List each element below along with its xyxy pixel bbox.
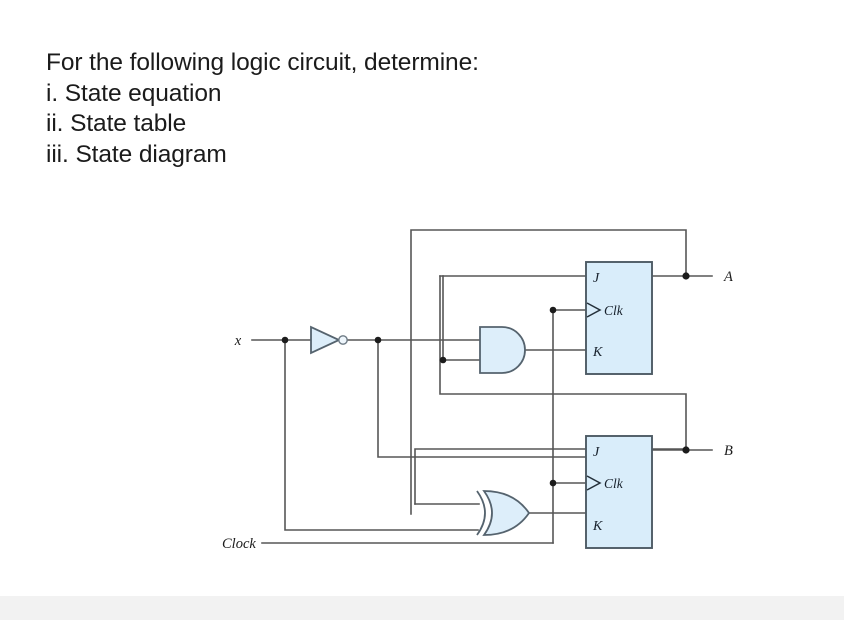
question-prompt: For the following logic circuit, determi… [46, 48, 766, 79]
junction-output-a [682, 272, 689, 279]
x-input-label: x [234, 333, 242, 349]
xor-gate-body [484, 491, 529, 535]
xor-gate [477, 491, 529, 535]
flip-flop-b-pin-j: J [593, 445, 600, 460]
junction-clock-ffb [550, 480, 557, 487]
output-a-label: A [723, 269, 733, 285]
flip-flop-a-pin-j: J [593, 271, 600, 286]
flip-flop-b-pin-k: K [592, 519, 603, 534]
inverter-gate [311, 327, 347, 353]
and-gate [480, 327, 525, 373]
logic-circuit-diagram: J Clk K J Clk K x Clock A B [0, 205, 844, 575]
junction-xbar-node [375, 337, 382, 344]
question-item-iii: iii. State diagram [46, 140, 766, 171]
question-text-block: For the following logic circuit, determi… [46, 48, 766, 170]
clock-input-label: Clock [222, 536, 256, 552]
flip-flop-b-pin-clk: Clk [604, 476, 624, 491]
junction-clock-ffa [550, 307, 557, 314]
wire-x-drop-to-xor [285, 340, 478, 530]
flip-flop-a: J Clk K [586, 262, 652, 374]
flip-flop-a-pin-clk: Clk [604, 303, 624, 318]
question-item-i: i. State equation [46, 79, 766, 110]
page-canvas: For the following logic circuit, determi… [0, 0, 844, 620]
inverter-bubble [339, 336, 347, 344]
junction-and-lower [440, 357, 447, 364]
inverter-triangle [311, 327, 339, 353]
junction-x-node [282, 337, 289, 344]
output-b-label: B [724, 443, 733, 459]
circuit-svg-canvas: J Clk K J Clk K x Clock A B [0, 205, 844, 575]
xor-extra-arc [477, 491, 485, 535]
flip-flop-b: J Clk K [586, 436, 652, 548]
junction-output-b [682, 446, 689, 453]
flip-flop-a-pin-k: K [592, 345, 603, 360]
bottom-band [0, 596, 844, 620]
question-item-ii: ii. State table [46, 109, 766, 140]
and-gate-body [480, 327, 525, 373]
